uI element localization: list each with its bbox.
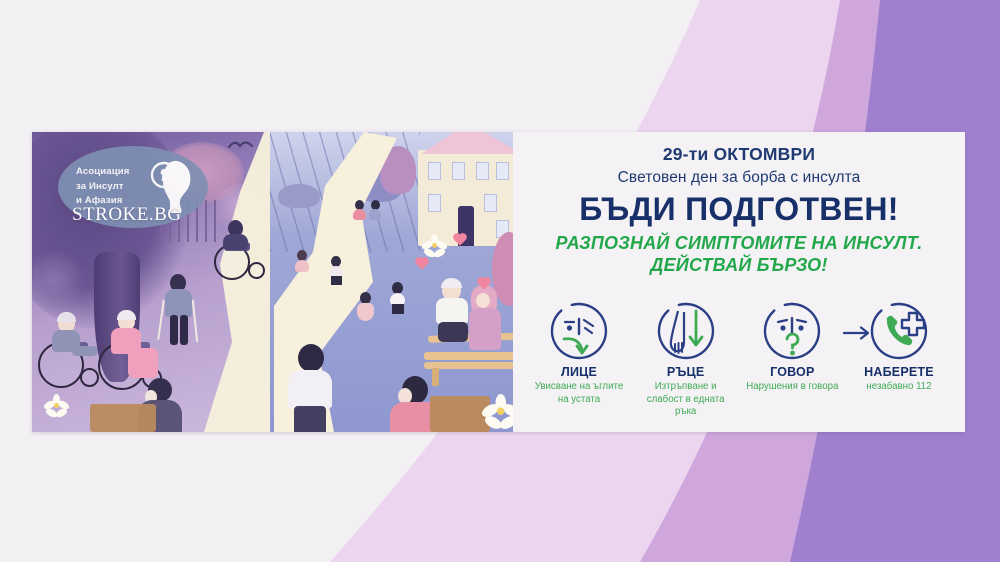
logo-brand-text: STROKE.BG bbox=[72, 204, 182, 226]
child-figure-4 bbox=[328, 256, 346, 286]
symptom-desc-speech: Нарушения в говора bbox=[740, 381, 844, 394]
wheelchair-figure-1 bbox=[208, 224, 270, 284]
campaign-headline: БЪДИ ПОДГОТВЕН! bbox=[513, 193, 965, 227]
illustration-image: Асоциация за Инсулт и Афазия STROKE.BG bbox=[32, 132, 513, 432]
slide-canvas: Асоциация за Инсулт и Афазия STROKE.BG 2… bbox=[0, 0, 1000, 562]
campaign-subtitle: Световен ден за борба с инсулта bbox=[513, 169, 965, 187]
child-figure-1 bbox=[352, 200, 368, 226]
symptom-title-face: ЛИЦЕ bbox=[527, 365, 631, 379]
symptom-item-face: ЛИЦЕ Увисване на ъглите на устата bbox=[527, 300, 631, 419]
symptom-desc-face: Увисване на ъглите на устата bbox=[527, 381, 631, 406]
house-icon bbox=[418, 150, 513, 246]
bush-icon-2 bbox=[278, 184, 320, 208]
child-figure-3 bbox=[294, 250, 312, 278]
park-bench-left bbox=[90, 404, 156, 432]
info-card: 29-ти ОКТОМВРИ Световен ден за борба с и… bbox=[513, 132, 965, 432]
weak-arm-icon bbox=[634, 300, 738, 362]
symptom-desc-call: незабавно 112 bbox=[847, 381, 951, 394]
symptom-title-call: НАБЕРЕТЕ bbox=[847, 365, 951, 379]
illustration-right-panel bbox=[270, 132, 513, 432]
symptom-desc-arms: Изтръпване и слабост в едната ръка bbox=[634, 381, 738, 419]
symptom-item-arms: РЪЦЕ Изтръпване и слабост в едната ръка bbox=[634, 300, 738, 419]
fast-symptom-icon-row: ЛИЦЕ Увисване на ъглите на устата bbox=[513, 300, 965, 419]
child-figure-5 bbox=[356, 292, 376, 326]
heart-icon bbox=[416, 258, 427, 269]
campaign-green-line-2: ДЕЙСТВАЙ БЪРЗО! bbox=[513, 255, 965, 276]
logo-text-block: Асоциация за Инсулт и Афазия bbox=[76, 165, 129, 208]
logo-line-2: за Инсулт bbox=[76, 180, 129, 194]
campaign-green-line-1: РАЗПОЗНАЙ СИМПТОМИТЕ НА ИНСУЛТ. bbox=[513, 233, 965, 254]
drooping-face-icon bbox=[527, 300, 631, 362]
symptom-item-call: НАБЕРЕТЕ незабавно 112 bbox=[847, 300, 951, 419]
logo-line-1: Асоциация bbox=[76, 165, 129, 179]
right-arrow-icon bbox=[843, 324, 873, 342]
symptom-item-speech: ГОВОР Нарушения в говора bbox=[740, 300, 844, 419]
foreground-figure-back-view bbox=[284, 344, 336, 432]
bird-icon bbox=[228, 138, 254, 152]
symptom-title-speech: ГОВОР bbox=[740, 365, 844, 379]
campaign-date: 29-ти ОКТОМВРИ bbox=[513, 144, 965, 165]
speech-question-face-icon bbox=[740, 300, 844, 362]
symptom-title-arms: РЪЦЕ bbox=[634, 365, 738, 379]
elderly-woman-figure bbox=[466, 288, 508, 354]
child-figure-2 bbox=[368, 200, 384, 226]
child-figure-6 bbox=[388, 282, 408, 316]
foliage-icon bbox=[34, 250, 84, 310]
campaign-banner: Асоциация за Инсулт и Афазия STROKE.BG 2… bbox=[32, 132, 965, 432]
